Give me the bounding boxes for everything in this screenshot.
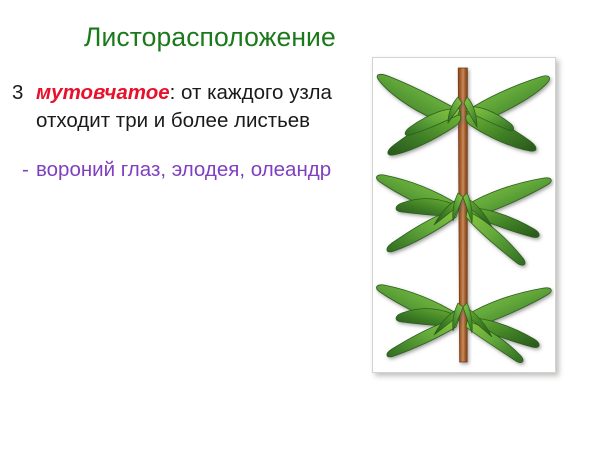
bullet-item-whorled: 3мутовчатое: от каждого узла отходит три…: [12, 79, 352, 136]
term-whorled: мутовчатое: [36, 81, 170, 104]
examples-item: -вороний глаз, элодея, олеандр: [12, 156, 352, 185]
plant-with-whorled-leaves-icon: [372, 57, 554, 371]
dash-marker: -: [22, 156, 36, 185]
slide-canvas: Листорасположение 3мутовчатое: от каждог…: [0, 0, 600, 451]
body-text-block: 3мутовчатое: от каждого узла отходит три…: [12, 58, 352, 205]
bullet-marker: 3: [12, 79, 36, 108]
page-title: Листорасположение: [84, 20, 554, 54]
plant-illustration-frame: [372, 57, 556, 373]
examples-list-text: вороний глаз, элодея, олеандр: [36, 158, 331, 181]
